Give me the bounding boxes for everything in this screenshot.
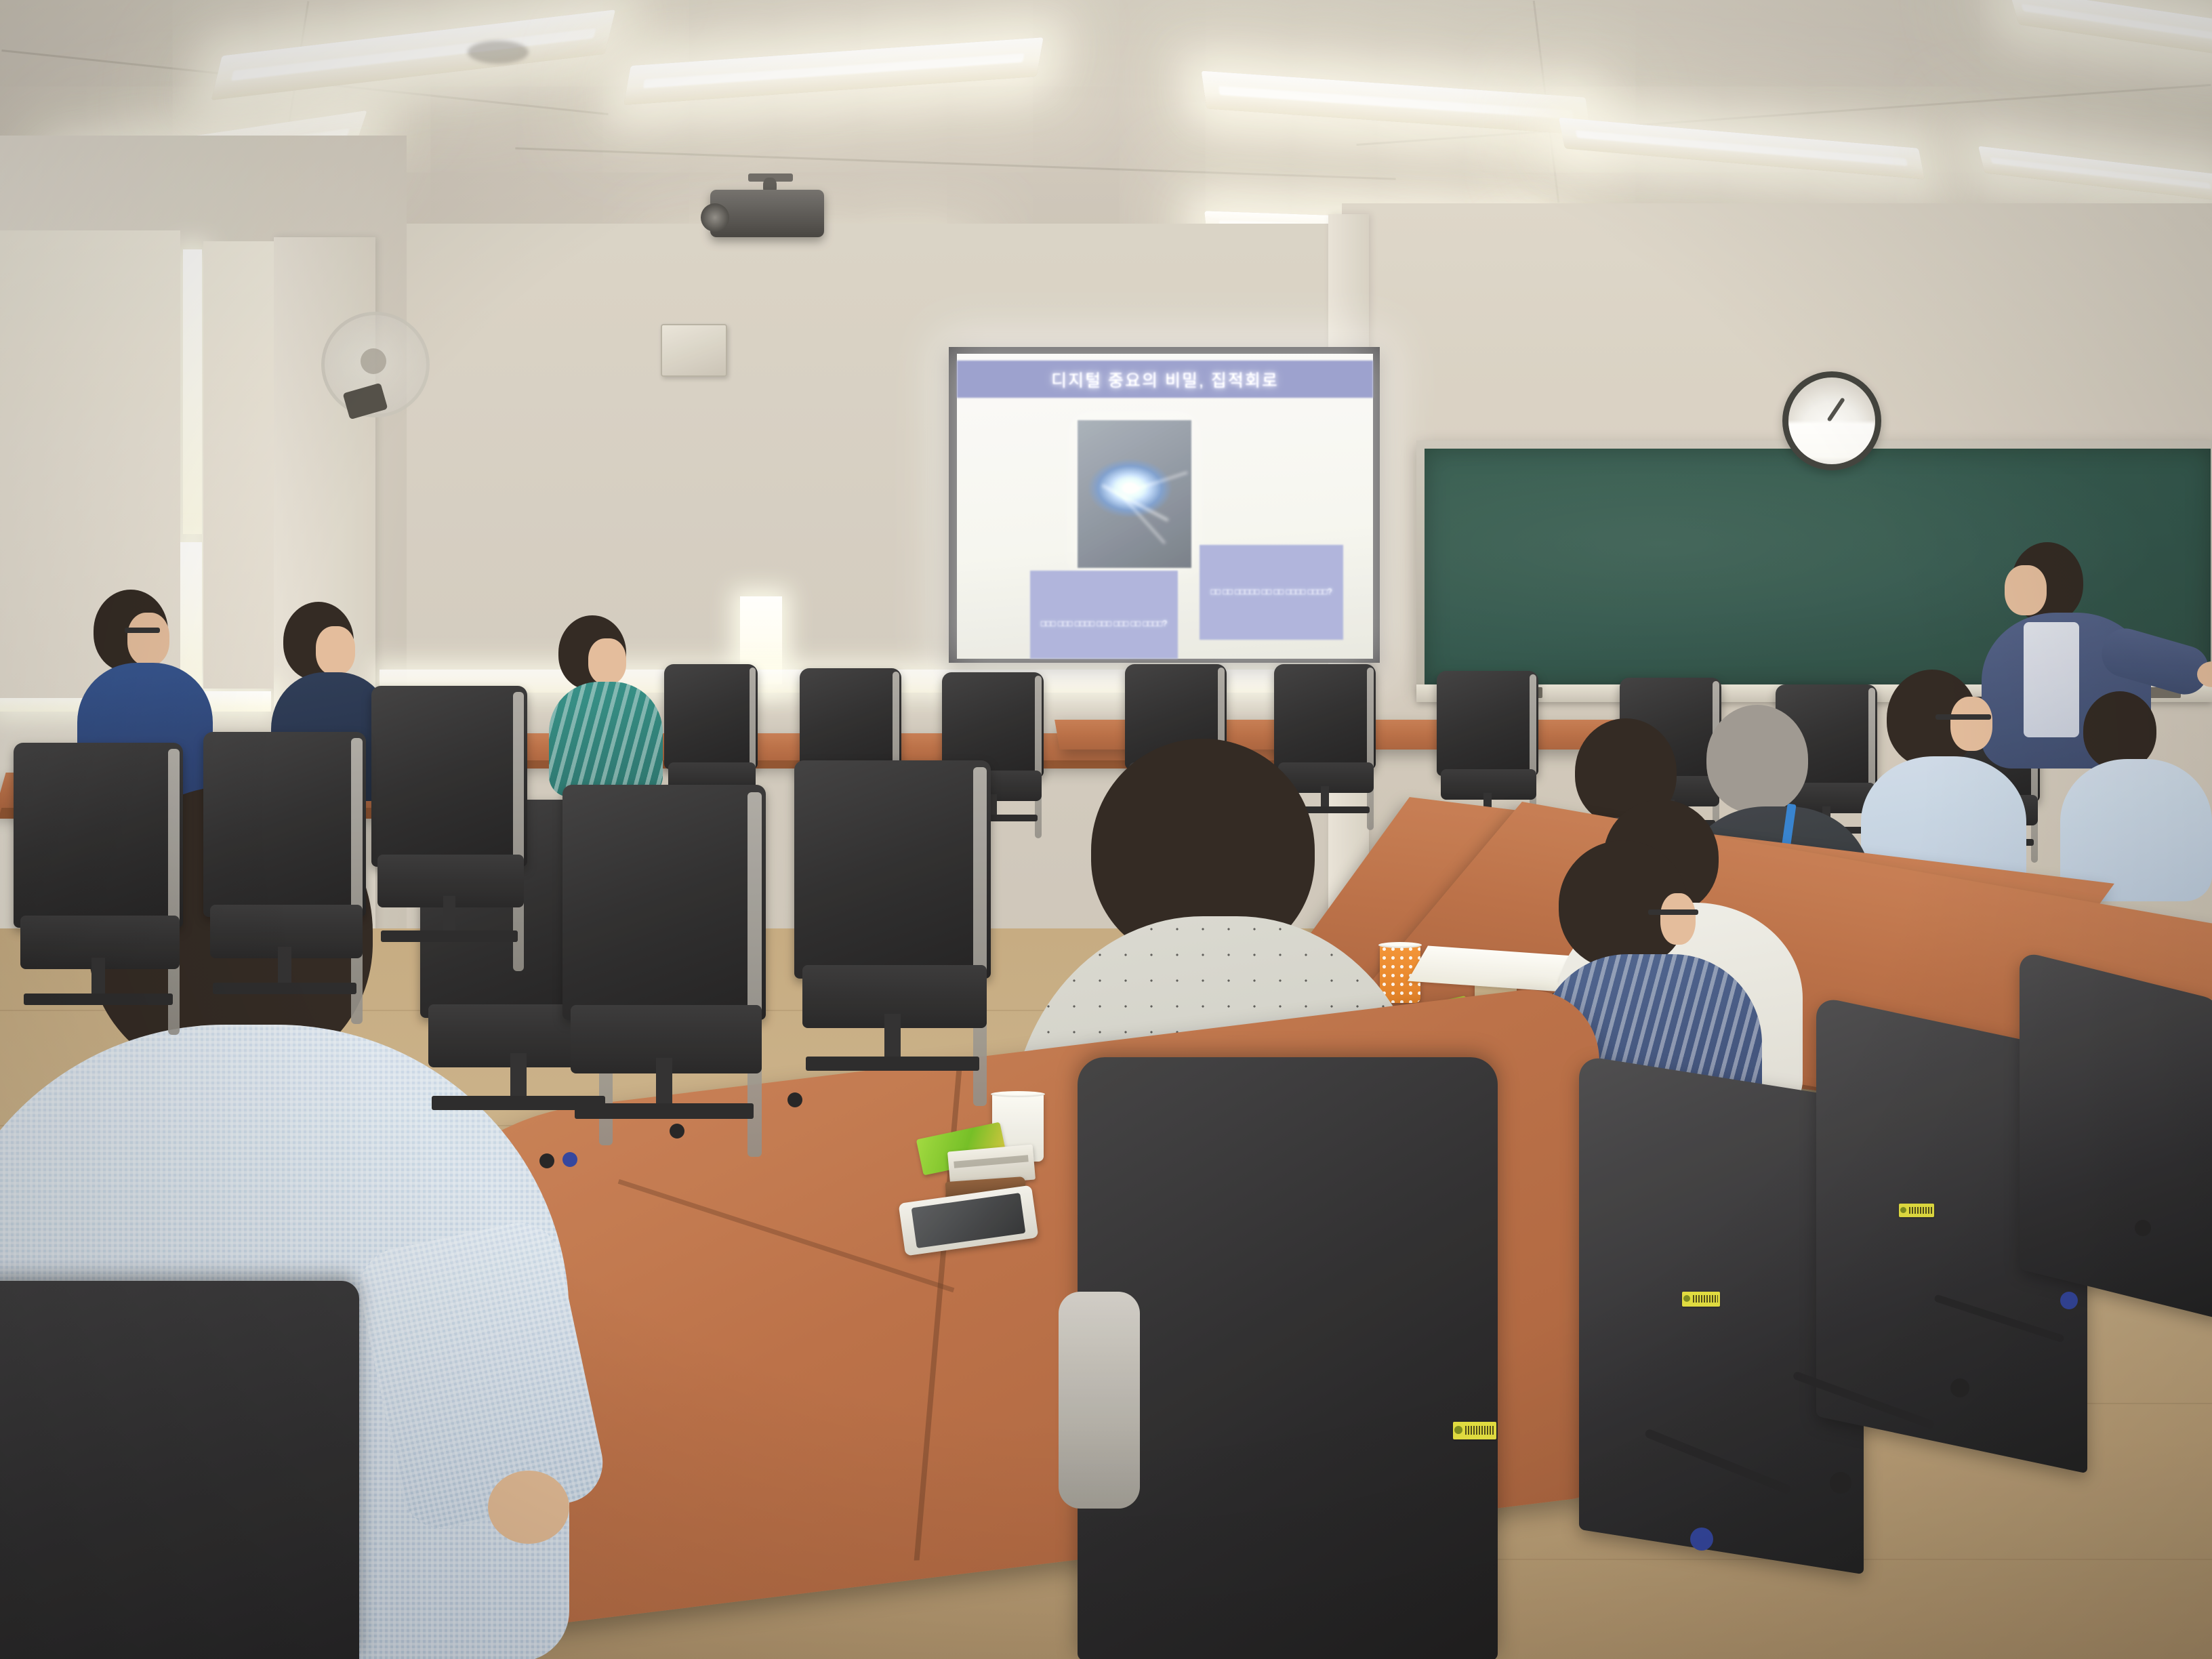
attendee-head — [2083, 691, 2156, 770]
office-chair[interactable] — [14, 743, 183, 1041]
slide-text-box-left: □□□ □□□ □□□□ □□□ □□□ □□ □□□□? — [1030, 571, 1178, 659]
chair-caster — [1950, 1378, 1969, 1397]
attendee-face — [316, 626, 355, 675]
wall-clock — [1782, 371, 1881, 470]
window-slit — [183, 249, 202, 534]
seminar-room-photo: 디지털 중요의 비밀, 집적회로 □□□ □□□ □□□□ □□□ □□□ □□… — [0, 0, 2212, 1659]
office-chair[interactable] — [562, 785, 766, 1164]
attendee-face — [1660, 893, 1696, 945]
attendee-head — [1706, 705, 1808, 813]
attendee-teal-shirt — [549, 615, 664, 792]
presenter-face — [2005, 565, 2047, 615]
chair-caster — [1830, 1472, 1851, 1494]
projection-screen: 디지털 중요의 비밀, 집적회로 □□□ □□□ □□□□ □□□ □□□ □□… — [949, 347, 1380, 663]
glasses-icon — [125, 628, 160, 633]
chair-caster — [1690, 1528, 1713, 1551]
office-chair[interactable] — [371, 686, 527, 977]
slide-title-text: 디지털 중요의 비밀, 집적회로 — [1051, 367, 1279, 392]
office-chair[interactable] — [794, 760, 991, 1113]
chair-caster — [562, 1152, 577, 1167]
attendee-far-right-light — [2060, 691, 2212, 895]
wall-speaker — [661, 324, 727, 377]
office-chair[interactable] — [203, 732, 366, 1030]
attendee-face — [1950, 697, 1992, 751]
chair-caster — [2060, 1292, 2078, 1309]
office-chair-right[interactable] — [2020, 951, 2212, 1320]
office-chair-center-foreground[interactable] — [1078, 1057, 1498, 1659]
slide-photo — [1078, 420, 1191, 568]
slide-text-box-right: □□ □□ □□□□□ □□ □□ □□□□ □□□□? — [1200, 545, 1343, 640]
asset-tag — [1899, 1204, 1934, 1217]
chair-caster — [670, 1124, 684, 1139]
glasses-icon — [1648, 909, 1698, 915]
ceiling-smoke-detector — [468, 41, 529, 64]
attendee-hand — [488, 1471, 569, 1544]
presentation-slide: 디지털 중요의 비밀, 집적회로 □□□ □□□ □□□□ □□□ □□□ □□… — [957, 354, 1373, 659]
asset-tag — [1682, 1292, 1720, 1307]
ceiling-projector — [698, 178, 834, 251]
chair-caster — [2135, 1220, 2151, 1236]
slide-title-bar: 디지털 중요의 비밀, 집적회로 — [957, 361, 1373, 398]
wall-fan — [316, 306, 431, 415]
chair-caster — [539, 1153, 554, 1168]
attendee-torso — [549, 682, 663, 797]
attendee-face — [127, 613, 169, 665]
attendee-face — [588, 638, 626, 684]
asset-tag — [1453, 1422, 1496, 1439]
office-chair-foreground[interactable] — [0, 1281, 359, 1659]
glasses-icon — [1935, 714, 1991, 720]
office-chair-armrest — [1059, 1292, 1140, 1509]
